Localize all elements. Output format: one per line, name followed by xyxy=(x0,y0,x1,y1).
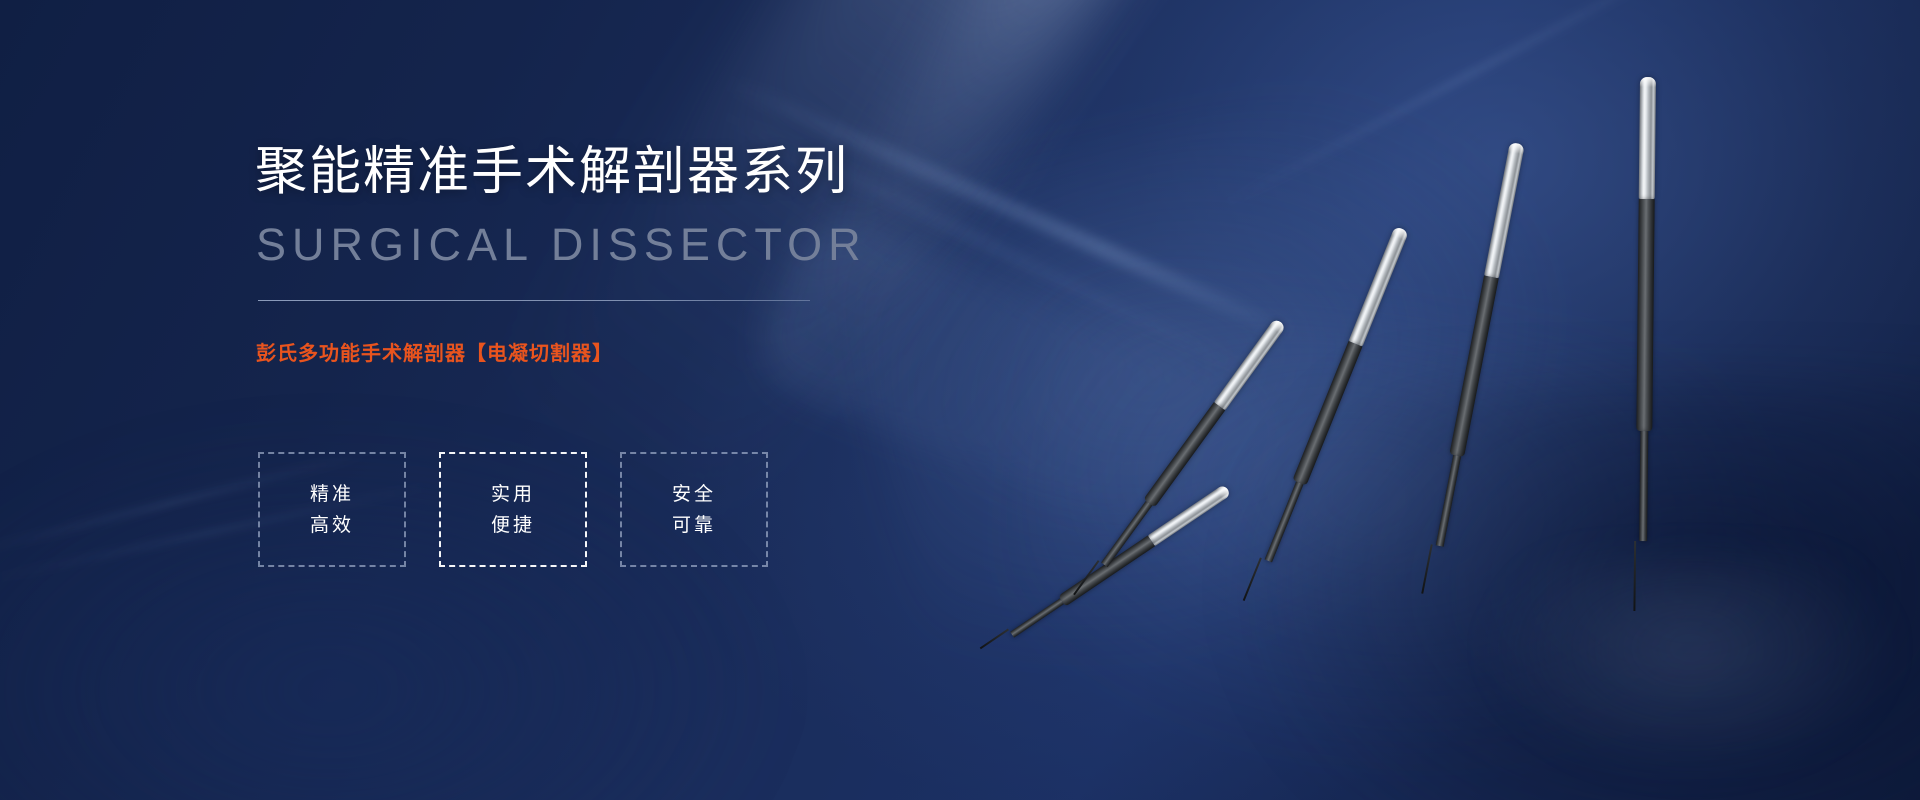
title-divider xyxy=(258,300,810,301)
feature-badge-practical: 实用 便捷 xyxy=(439,452,587,567)
page-subtitle-english: SURGICAL DISSECTOR xyxy=(256,218,867,272)
feature-badge-precision: 精准 高效 xyxy=(258,452,406,567)
page-title: 聚能精准手术解剖器系列 xyxy=(255,142,849,203)
feature-badge-safety: 安全 可靠 xyxy=(620,452,768,567)
banner-text-content: 聚能精准手术解剖器系列 SURGICAL DISSECTOR 彭氏多功能手术解剖… xyxy=(0,0,1920,800)
feature-badge-practical-line1: 实用 xyxy=(491,485,535,504)
feature-badge-row: 精准 高效 实用 便捷 安全 可靠 xyxy=(258,452,768,567)
feature-badge-precision-line2: 高效 xyxy=(310,516,354,535)
product-hero-banner: 聚能精准手术解剖器系列 SURGICAL DISSECTOR 彭氏多功能手术解剖… xyxy=(0,0,1920,800)
feature-badge-precision-line1: 精准 xyxy=(310,485,354,504)
feature-badge-safety-line2: 可靠 xyxy=(672,516,716,535)
feature-badge-safety-line1: 安全 xyxy=(672,485,716,504)
product-name-label: 彭氏多功能手术解剖器【电凝切割器】 xyxy=(256,337,613,366)
feature-badge-practical-line2: 便捷 xyxy=(491,516,535,535)
